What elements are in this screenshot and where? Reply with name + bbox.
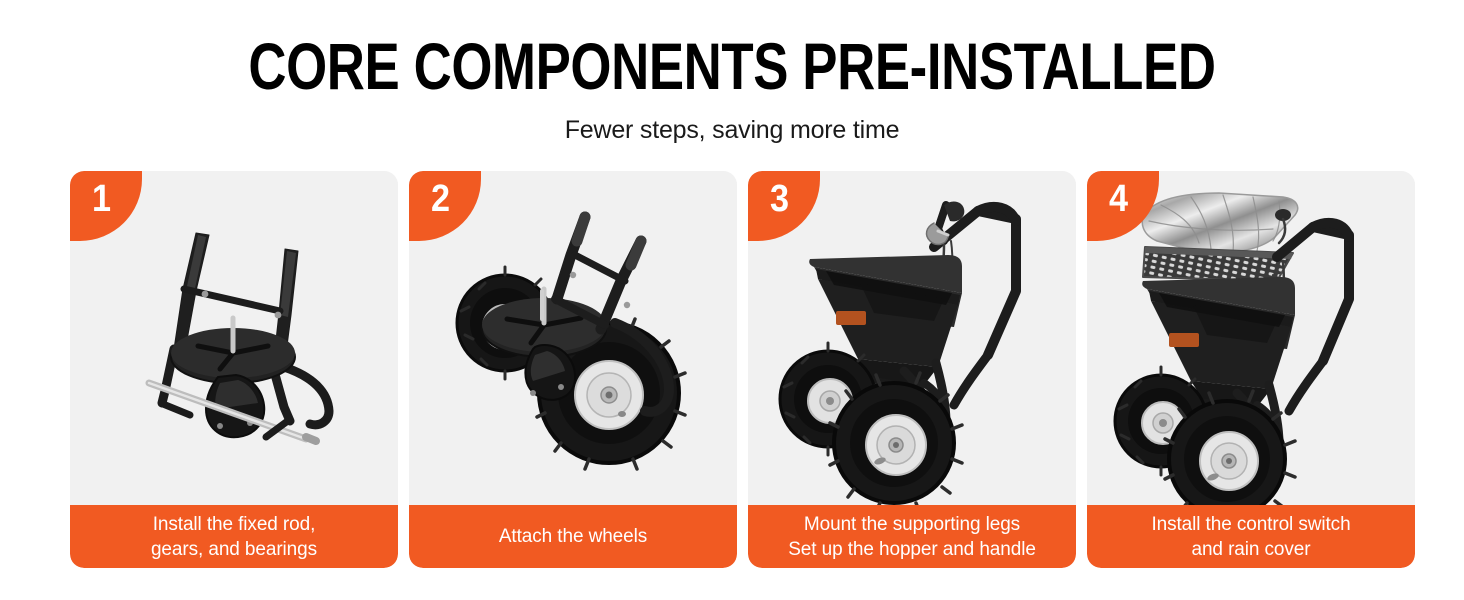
step-caption-text: Install the fixed rod, gears, and bearin… [143,512,325,562]
step-number-label: 3 [770,177,789,221]
step-caption-text: Attach the wheels [491,524,655,549]
step-card-1[interactable]: 1 [70,171,398,568]
step-number-label: 1 [92,177,111,221]
step-caption-bar-2: Attach the wheels [409,505,737,568]
step-caption-bar-4: Install the control switch and rain cove… [1087,505,1415,568]
header: CORE COMPONENTS PRE-INSTALLED Fewer step… [0,0,1464,145]
step-card-2[interactable]: 2 [409,171,737,568]
step-card-4[interactable]: 4 [1087,171,1415,568]
product-infographic-page: CORE COMPONENTS PRE-INSTALLED Fewer step… [0,0,1464,600]
step-caption-text: Mount the supporting legs Set up the hop… [780,512,1044,562]
steps-card-row: 1 [70,171,1394,568]
step-caption-text: Install the control switch and rain cove… [1143,512,1358,562]
step-number-label: 2 [431,177,450,221]
step-number-label: 4 [1109,177,1128,221]
step-card-3[interactable]: 3 [748,171,1076,568]
step-caption-bar-3: Mount the supporting legs Set up the hop… [748,505,1076,568]
page-title: CORE COMPONENTS PRE-INSTALLED [146,33,1317,99]
page-subtitle: Fewer steps, saving more time [0,115,1464,145]
step-caption-bar-1: Install the fixed rod, gears, and bearin… [70,505,398,568]
